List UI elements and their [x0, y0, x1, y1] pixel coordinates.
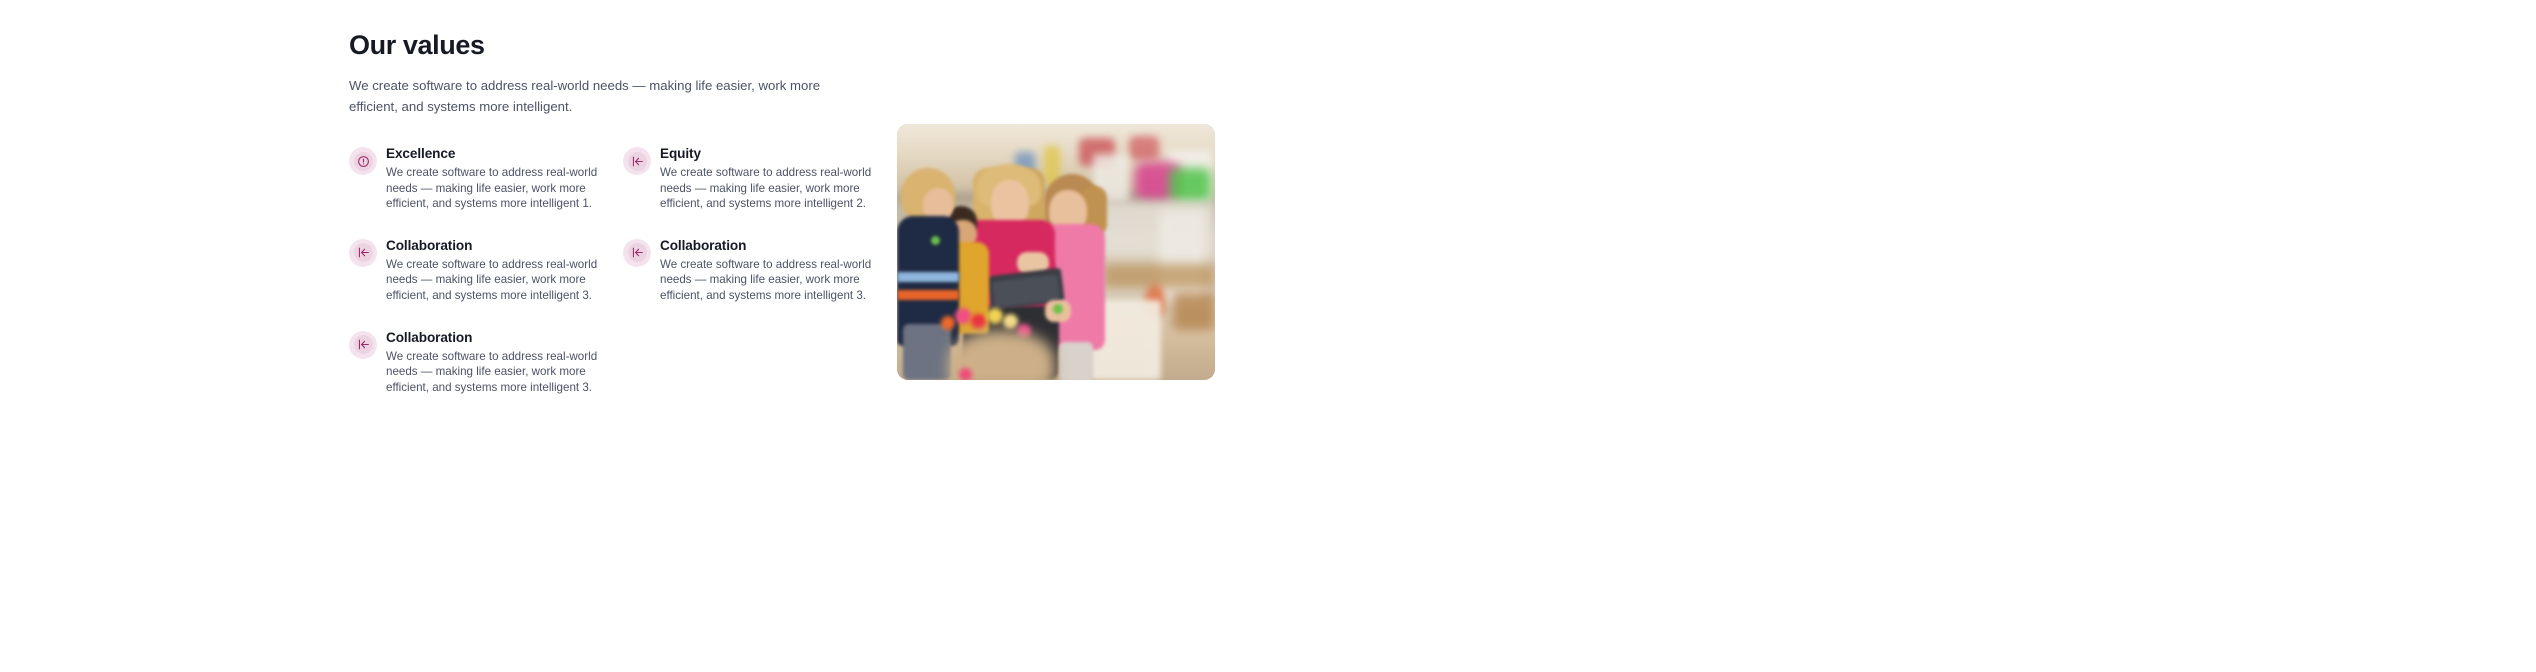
- value-title: Equity: [660, 144, 879, 163]
- exclamation-circle-icon: [349, 147, 377, 175]
- value-body: Excellence We create software to address…: [386, 144, 623, 212]
- arrow-to-line-left-icon: [623, 147, 651, 175]
- value-text: We create software to address real-world…: [386, 349, 605, 396]
- value-card: Collaboration We create software to addr…: [623, 236, 897, 304]
- value-title: Collaboration: [386, 328, 605, 347]
- value-body: Collaboration We create software to addr…: [386, 328, 623, 396]
- page-subtitle: We create software to address real-world…: [349, 75, 849, 117]
- value-body: Collaboration We create software to addr…: [386, 236, 623, 304]
- values-grid: Excellence We create software to address…: [349, 144, 909, 395]
- value-card: Collaboration We create software to addr…: [349, 236, 623, 304]
- values-page: Our values We create software to address…: [0, 0, 2536, 672]
- our-values-section: Our values We create software to address…: [349, 28, 2229, 395]
- arrow-to-line-left-icon: [349, 331, 377, 359]
- value-body: Equity We create software to address rea…: [660, 144, 897, 212]
- value-card: Excellence We create software to address…: [349, 144, 623, 212]
- arrow-to-line-left-icon: [623, 239, 651, 267]
- value-body: Collaboration We create software to addr…: [660, 236, 897, 304]
- arrow-to-line-left-icon: [349, 239, 377, 267]
- value-text: We create software to address real-world…: [386, 257, 605, 304]
- value-card: Equity We create software to address rea…: [623, 144, 897, 212]
- value-text: We create software to address real-world…: [386, 165, 605, 212]
- classroom-photo-image: [897, 124, 1215, 380]
- value-text: We create software to address real-world…: [660, 257, 879, 304]
- page-title: Our values: [349, 28, 2229, 62]
- classroom-photo: [897, 124, 1215, 380]
- value-title: Collaboration: [386, 236, 605, 255]
- value-title: Excellence: [386, 144, 605, 163]
- value-text: We create software to address real-world…: [660, 165, 879, 212]
- value-card: Collaboration We create software to addr…: [349, 328, 623, 396]
- value-title: Collaboration: [660, 236, 879, 255]
